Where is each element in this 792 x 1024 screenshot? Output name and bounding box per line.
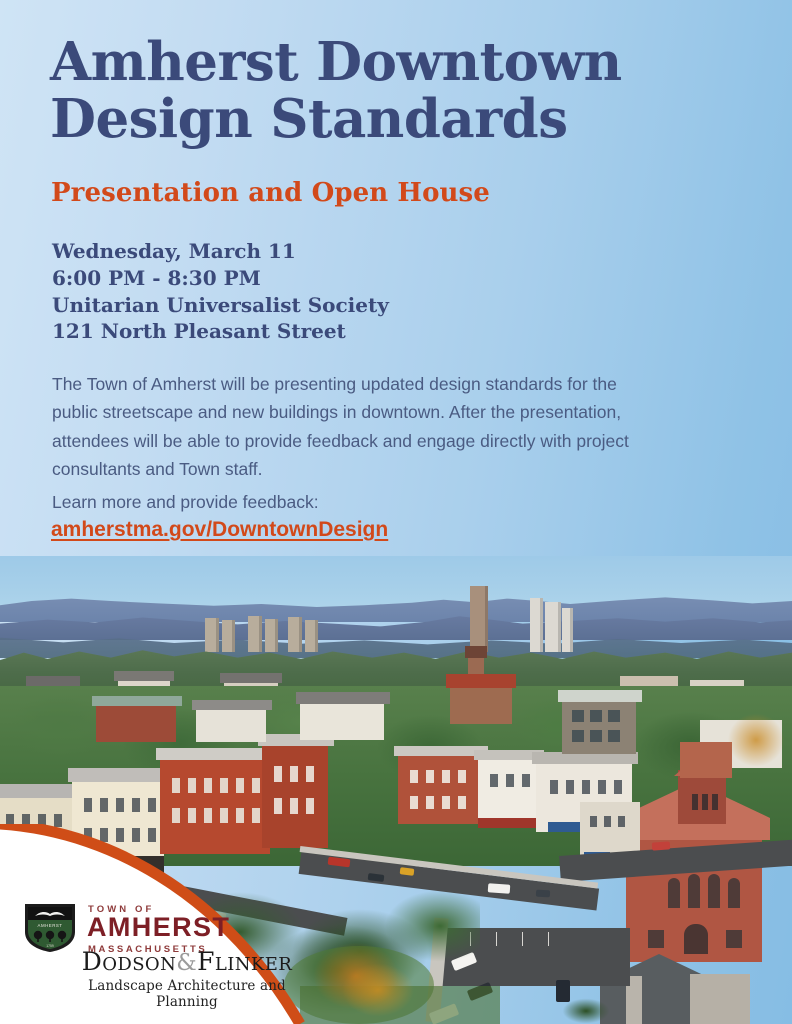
building-roof [92,696,182,706]
church-steeple-roof [465,646,487,658]
church-roof [446,674,516,688]
event-details: Wednesday, March 11 6:00 PM - 8:30 PM Un… [52,238,389,345]
building-roof [296,692,390,704]
campus-tower [265,619,278,652]
storefront-base [0,866,80,884]
svg-text:1759: 1759 [46,944,54,948]
dodson-flinker-tagline: Landscape Architecture and Planning [62,978,312,1010]
building-roof [156,748,276,760]
building-roof [192,700,272,710]
poster-root: AMHERST 1759 TOWN OF AMHERST MASSACHUSET… [0,0,792,1024]
dodson-flinker-name: Dodson&Flinker [62,948,312,976]
headline-line-2: Design Standards [50,91,750,148]
campus-tower [248,616,262,652]
campus-tower [545,602,561,652]
amherst-town-seal-shield-icon: AMHERST 1759 [22,902,78,954]
df-name-part2: Flinker [197,947,292,976]
church-body [450,684,512,724]
storefront-awning [478,818,540,828]
event-venue: Unitarian Universalist Society [52,292,389,319]
brick-row-building [160,756,270,854]
headline-line-1: Amherst Downtown [50,34,750,91]
svg-text:AMHERST: AMHERST [38,923,63,928]
campus-tower [288,617,302,652]
church-annex [690,974,750,1024]
autumn-tree [722,706,792,776]
white-car [95,889,112,899]
campus-tower [305,620,318,652]
project-website-link[interactable]: amherstma.gov/DowntownDesign [51,518,388,542]
storefront-base [72,856,164,874]
parked-car [536,890,550,898]
fire-truck [652,841,671,850]
event-date: Wednesday, March 11 [52,238,389,265]
house-roof [114,671,174,681]
learn-more-label: Learn more and provide feedback: [52,492,319,513]
building-roof [68,768,170,782]
campus-library-tower [470,586,488,652]
campus-tower [205,618,219,652]
background-brick-building [96,702,176,742]
brick-row-building [262,742,328,848]
df-ampersand: & [176,950,197,976]
campus-tower [530,598,543,652]
town-logo-name: AMHERST [87,914,230,941]
white-bus [488,883,511,894]
page-title: Amherst Downtown Design Standards [50,34,750,147]
house-roof [220,673,282,683]
shrub [556,996,616,1024]
storefront-awning-blue [548,822,582,832]
campus-tower [222,620,235,652]
main-street-building-white [478,756,540,826]
house-roof [26,676,80,686]
event-address: 121 North Pleasant Street [52,318,389,345]
building-roof [558,690,642,702]
background-building [196,706,266,742]
event-time: 6:00 PM - 8:30 PM [52,265,389,292]
main-street-brick-block [398,752,482,824]
background-building [300,700,384,740]
event-description: The Town of Amherst will be presenting u… [52,370,662,483]
campus-tower [562,608,573,652]
df-name-part1: Dodson [82,947,176,976]
autumn-tree [332,954,428,1024]
main-street-building-cream [72,776,164,868]
modern-mixed-use-building [562,698,636,754]
dodson-flinker-logo: Dodson&Flinker Landscape Architecture an… [62,948,312,1010]
event-subtitle: Presentation and Open House [51,178,490,208]
